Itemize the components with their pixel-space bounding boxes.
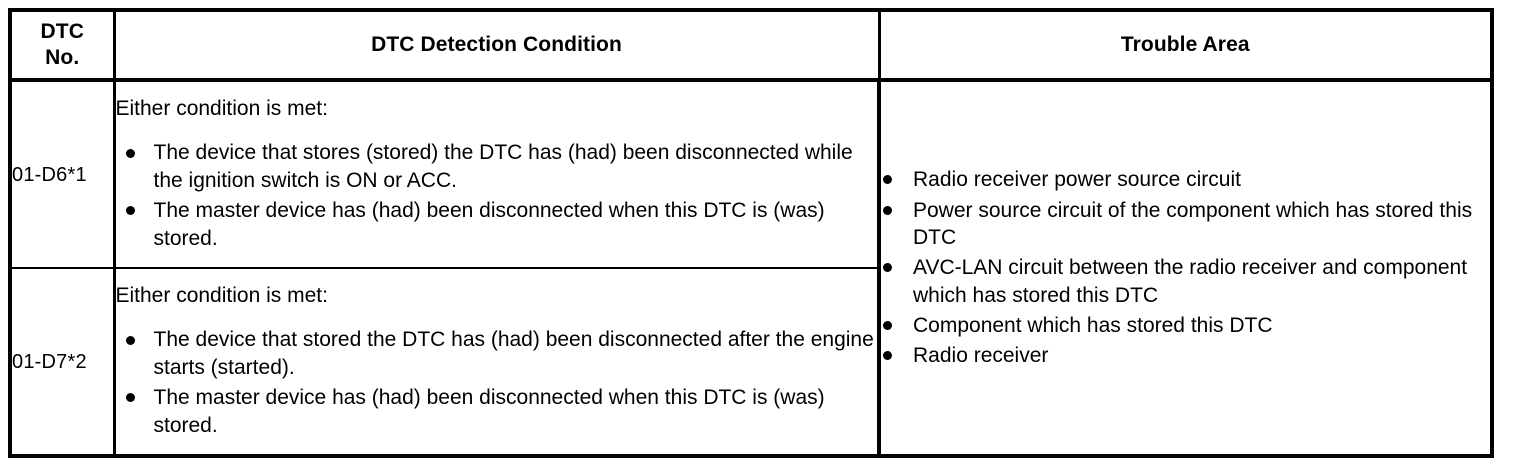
cell-trouble-area: Radio receiver power source circuit Powe… — [879, 80, 1492, 456]
document-page: DTC No. DTC Detection Condition Trouble … — [0, 0, 1520, 466]
header-trouble-area: Trouble Area — [879, 10, 1492, 80]
list-item-text: Radio receiver power source circuit — [913, 168, 1241, 191]
bullet-dot-icon — [883, 321, 892, 330]
list-item: The device that stored the DTC has (had)… — [116, 326, 878, 381]
table-header: DTC No. DTC Detection Condition Trouble … — [10, 10, 1492, 80]
list-item: The master device has (had) been disconn… — [116, 384, 878, 439]
bullet-dot-icon — [883, 263, 892, 272]
list-item-text: Component which has stored this DTC — [913, 314, 1273, 337]
bullet-dot-icon — [126, 149, 135, 158]
list-item: The master device has (had) been disconn… — [116, 197, 878, 252]
bullet-dot-icon — [883, 206, 892, 215]
dtc-table: DTC No. DTC Detection Condition Trouble … — [8, 8, 1494, 458]
list-item: Power source circuit of the component wh… — [881, 197, 1490, 252]
header-dtc-no-line1: DTC — [41, 20, 84, 43]
list-item: AVC-LAN circuit between the radio receiv… — [881, 254, 1490, 309]
header-dtc-no-line2: No. — [45, 46, 79, 69]
cell-detection-condition: Either condition is met: The device that… — [114, 80, 879, 268]
list-item-text: The master device has (had) been disconn… — [154, 199, 825, 250]
condition-bullet-list: The device that stored the DTC has (had)… — [116, 326, 878, 439]
cell-dtc-no: 01-D7*2 — [10, 268, 114, 456]
list-item-text: The master device has (had) been disconn… — [154, 386, 825, 437]
list-item: The device that stores (stored) the DTC … — [116, 139, 878, 194]
trouble-area-list: Radio receiver power source circuit Powe… — [881, 166, 1490, 369]
bullet-dot-icon — [883, 175, 892, 184]
bullet-dot-icon — [126, 336, 135, 345]
header-row: DTC No. DTC Detection Condition Trouble … — [10, 10, 1492, 80]
condition-lead: Either condition is met: — [116, 284, 878, 309]
list-item: Component which has stored this DTC — [881, 312, 1490, 339]
header-dtc-detection-condition: DTC Detection Condition — [114, 10, 879, 80]
list-item-text: The device that stores (stored) the DTC … — [154, 141, 853, 192]
condition-bullet-list: The device that stores (stored) the DTC … — [116, 139, 878, 252]
cell-detection-condition: Either condition is met: The device that… — [114, 268, 879, 456]
list-item-text: AVC-LAN circuit between the radio receiv… — [913, 256, 1467, 306]
list-item-text: The device that stored the DTC has (had)… — [154, 328, 874, 379]
bullet-dot-icon — [883, 351, 892, 360]
list-item: Radio receiver — [881, 342, 1490, 369]
table-body: 01-D6*1 Either condition is met: The dev… — [10, 80, 1492, 456]
list-item-text: Power source circuit of the component wh… — [913, 199, 1472, 249]
table-row: 01-D6*1 Either condition is met: The dev… — [10, 80, 1492, 268]
cell-dtc-no: 01-D6*1 — [10, 80, 114, 268]
bullet-dot-icon — [126, 206, 135, 215]
list-item: Radio receiver power source circuit — [881, 166, 1490, 193]
list-item-text: Radio receiver — [913, 344, 1048, 367]
header-dtc-no: DTC No. — [10, 10, 114, 80]
condition-lead: Either condition is met: — [116, 97, 878, 122]
bullet-dot-icon — [126, 393, 135, 402]
